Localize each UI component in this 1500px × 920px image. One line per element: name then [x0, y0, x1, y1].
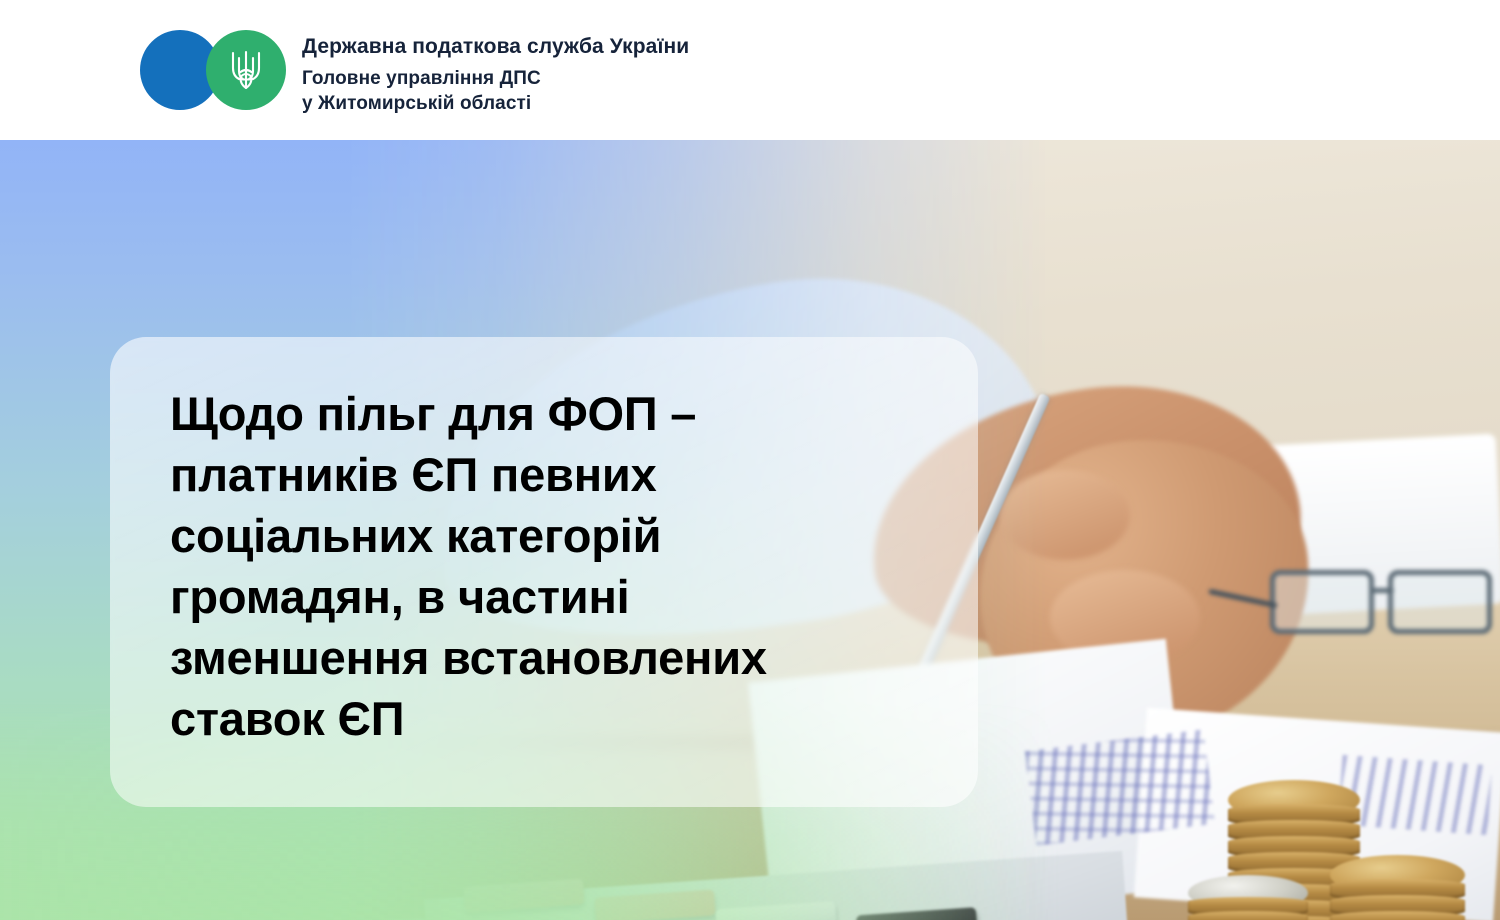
org-title-line-2: Головне управління ДПС — [302, 66, 689, 91]
page-title: Щодо пільг для ФОП – платників ЄП певних… — [170, 383, 930, 750]
organization-logo-block: Державна податкова служба України Головн… — [140, 30, 689, 116]
org-title-line-1: Державна податкова служба України — [302, 34, 689, 61]
headline-line-2: платників ЄП певних — [170, 444, 930, 505]
organization-name-text: Державна податкова служба України Головн… — [302, 30, 689, 116]
headline-card: Щодо пільг для ФОП – платників ЄП певних… — [110, 337, 978, 807]
headline-line-6: ставок ЄП — [170, 688, 930, 749]
green-circle-icon — [206, 30, 286, 110]
tax-service-info-banner: Державна податкова служба України Головн… — [0, 0, 1500, 920]
headline-line-4: громадян, в частині — [170, 566, 930, 627]
headline-line-5: зменшення встановлених — [170, 627, 930, 688]
headline-line-1: Щодо пільг для ФОП – — [170, 383, 930, 444]
banner-header: Державна податкова служба України Головн… — [0, 0, 1500, 140]
ukraine-trident-icon — [229, 48, 263, 92]
org-title-line-3: у Житомирській області — [302, 91, 689, 116]
headline-line-3: соціальних категорій — [170, 505, 930, 566]
logo-marks — [140, 30, 290, 110]
